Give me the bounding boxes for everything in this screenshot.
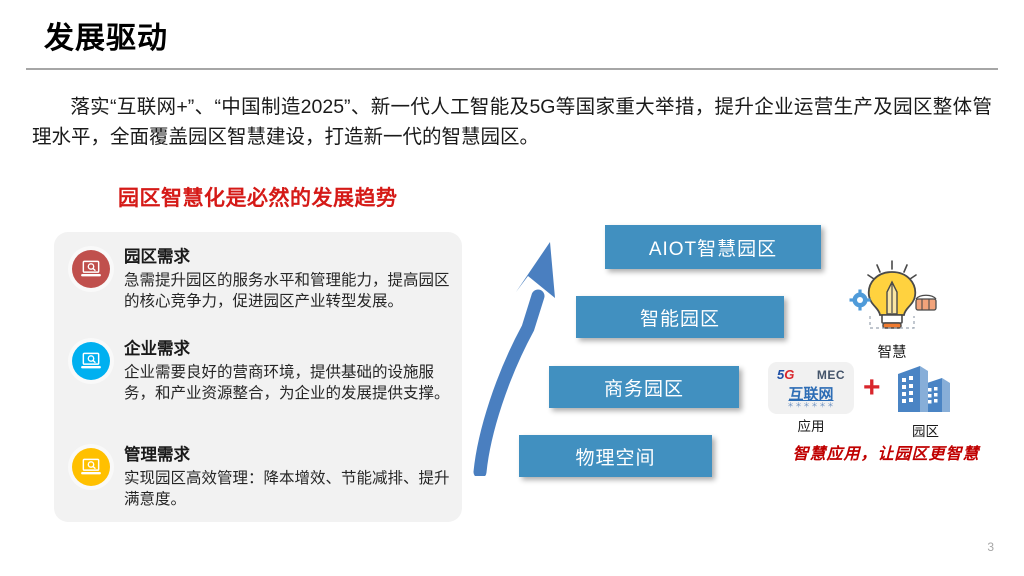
application-plus-park-row: 5G MEC 互联网 ＊＊＊＊＊＊ 应用 +	[768, 362, 1006, 440]
lightbulb-group: 智慧	[840, 258, 944, 362]
needs-card: 园区需求 急需提升园区的服务水平和管理能力，提高园区的核心竞争力，促进园区产业转…	[54, 232, 462, 522]
5g-letter: G	[784, 367, 794, 382]
illustration-group: 智慧 5G MEC 互联网 ＊＊＊＊＊＊ 应用 +	[760, 258, 1010, 478]
need-title: 企业需求	[124, 338, 456, 360]
gear-icon	[850, 290, 871, 311]
decorative-dots: ＊＊＊＊＊＊	[768, 400, 854, 410]
application-group: 5G MEC 互联网 ＊＊＊＊＊＊ 应用	[768, 362, 854, 435]
need-title: 管理需求	[124, 444, 456, 466]
laptop-search-icon	[72, 342, 110, 380]
section-heading-trend: 园区智慧化是必然的发展趋势	[118, 182, 398, 212]
plus-icon: +	[863, 362, 881, 414]
lightbulb-label: 智慧	[840, 341, 944, 362]
stage-box-physical[interactable]: 物理空间	[519, 435, 712, 477]
need-description: 急需提升园区的服务水平和管理能力，提高园区的核心竞争力，促进园区产业转型发展。	[124, 270, 456, 312]
slide-root: 发展驱动 落实“互联网+”、“中国制造2025”、新一代人工智能及5G等国家重大…	[0, 0, 1024, 576]
laptop-search-icon	[72, 448, 110, 486]
park-group: 园区	[890, 362, 962, 440]
stage-box-smart[interactable]: 智能园区	[576, 296, 784, 338]
need-text: 企业需求 企业需要良好的营商环境，提供基础的设施服务，和产业资源整合，为企业的发…	[110, 338, 462, 404]
need-item-park[interactable]: 园区需求 急需提升园区的服务水平和管理能力，提高园区的核心竞争力，促进园区产业转…	[54, 246, 462, 312]
intro-paragraph: 落实“互联网+”、“中国制造2025”、新一代人工智能及5G等国家重大举措，提升…	[32, 92, 992, 152]
need-item-management[interactable]: 管理需求 实现园区高效管理：降本增效、节能减排、提升满意度。	[54, 444, 462, 510]
tagline-text: 智慧应用，让园区更智慧	[766, 440, 1006, 464]
intro-text: 落实“互联网+”、“中国制造2025”、新一代人工智能及5G等国家重大举措，提升…	[32, 96, 992, 148]
need-item-enterprise[interactable]: 企业需求 企业需要良好的营商环境，提供基础的设施服务，和产业资源整合，为企业的发…	[54, 338, 462, 404]
buildings-icon	[890, 362, 962, 414]
need-text: 园区需求 急需提升园区的服务水平和管理能力，提高园区的核心竞争力，促进园区产业转…	[110, 246, 462, 312]
need-text: 管理需求 实现园区高效管理：降本增效、节能减排、提升满意度。	[110, 444, 462, 510]
laptop-search-icon	[72, 250, 110, 288]
title-divider	[26, 68, 998, 70]
page-title: 发展驱动	[44, 13, 168, 57]
park-caption: 园区	[890, 420, 962, 440]
network-card: 5G MEC 互联网 ＊＊＊＊＊＊	[768, 362, 854, 414]
need-description: 企业需要良好的营商环境，提供基础的设施服务，和产业资源整合，为企业的发展提供支撑…	[124, 362, 456, 404]
page-number: 3	[987, 540, 994, 554]
need-description: 实现园区高效管理：降本增效、节能减排、提升满意度。	[124, 468, 456, 510]
books-icon	[916, 295, 936, 310]
need-title: 园区需求	[124, 246, 456, 268]
application-caption: 应用	[768, 415, 854, 435]
mec-label: MEC	[817, 368, 845, 382]
lightbulb-icon	[846, 258, 938, 334]
5g-badge: 5G	[777, 367, 794, 382]
stage-box-business[interactable]: 商务园区	[549, 366, 739, 408]
